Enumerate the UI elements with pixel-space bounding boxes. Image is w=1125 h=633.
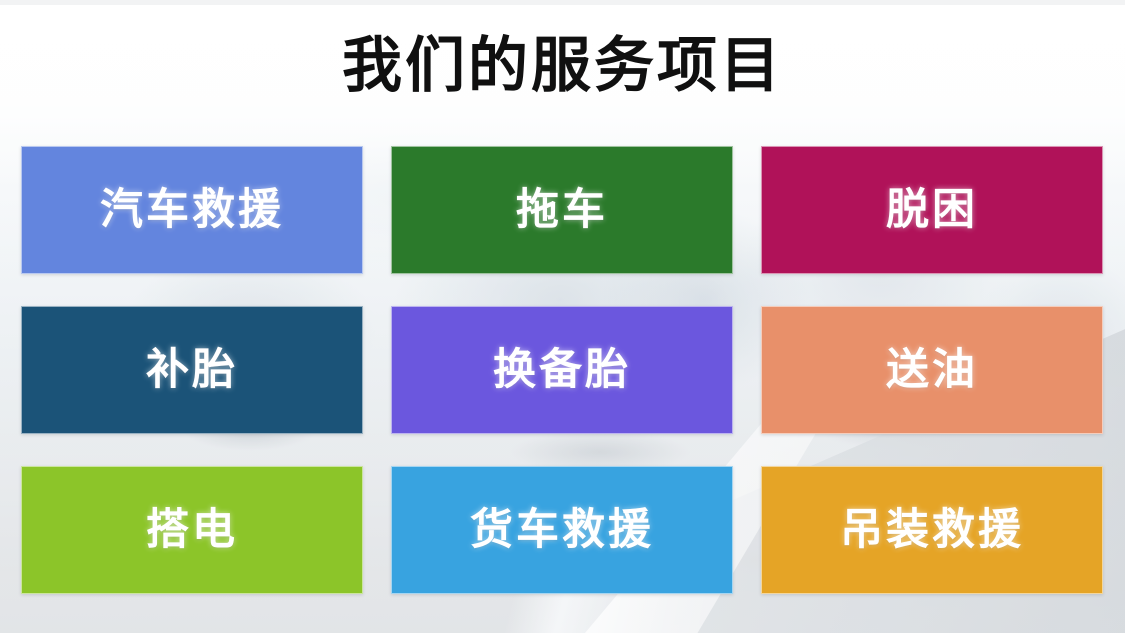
service-tile-spare-tire-change[interactable]: 换备胎	[391, 306, 733, 434]
service-tile-label: 送油	[886, 349, 978, 392]
service-tile-tire-repair[interactable]: 补胎	[21, 306, 363, 434]
page-title: 我们的服务项目	[342, 36, 783, 96]
service-tile-fuel-delivery[interactable]: 送油	[761, 306, 1103, 434]
service-tile-label: 脱困	[886, 189, 978, 232]
service-tile-roadside-assistance[interactable]: 汽车救援	[21, 146, 363, 274]
service-tile-jump-start[interactable]: 搭电	[21, 466, 363, 594]
service-tile-label: 拖车	[516, 189, 608, 232]
service-grid: 汽车救援 拖车 脱困 补胎 换备胎 送油 搭电 货车救援 吊装救援	[21, 146, 1104, 614]
service-tile-label: 货车救援	[470, 509, 654, 552]
service-tile-label: 换备胎	[493, 349, 631, 392]
service-poster: 我们的服务项目 汽车救援 拖车 脱困 补胎 换备胎 送油 搭电 货车救援 吊装救…	[0, 0, 1125, 633]
service-tile-crane-lift-rescue[interactable]: 吊装救援	[761, 466, 1103, 594]
service-tile-label: 汽车救援	[100, 189, 284, 232]
service-tile-truck-rescue[interactable]: 货车救援	[391, 466, 733, 594]
service-tile-extrication[interactable]: 脱困	[761, 146, 1103, 274]
service-tile-label: 吊装救援	[840, 509, 1024, 552]
service-tile-label: 补胎	[146, 349, 238, 392]
service-tile-label: 搭电	[146, 509, 238, 552]
service-tile-towing[interactable]: 拖车	[391, 146, 733, 274]
page-title-area: 我们的服务项目	[0, 0, 1125, 132]
